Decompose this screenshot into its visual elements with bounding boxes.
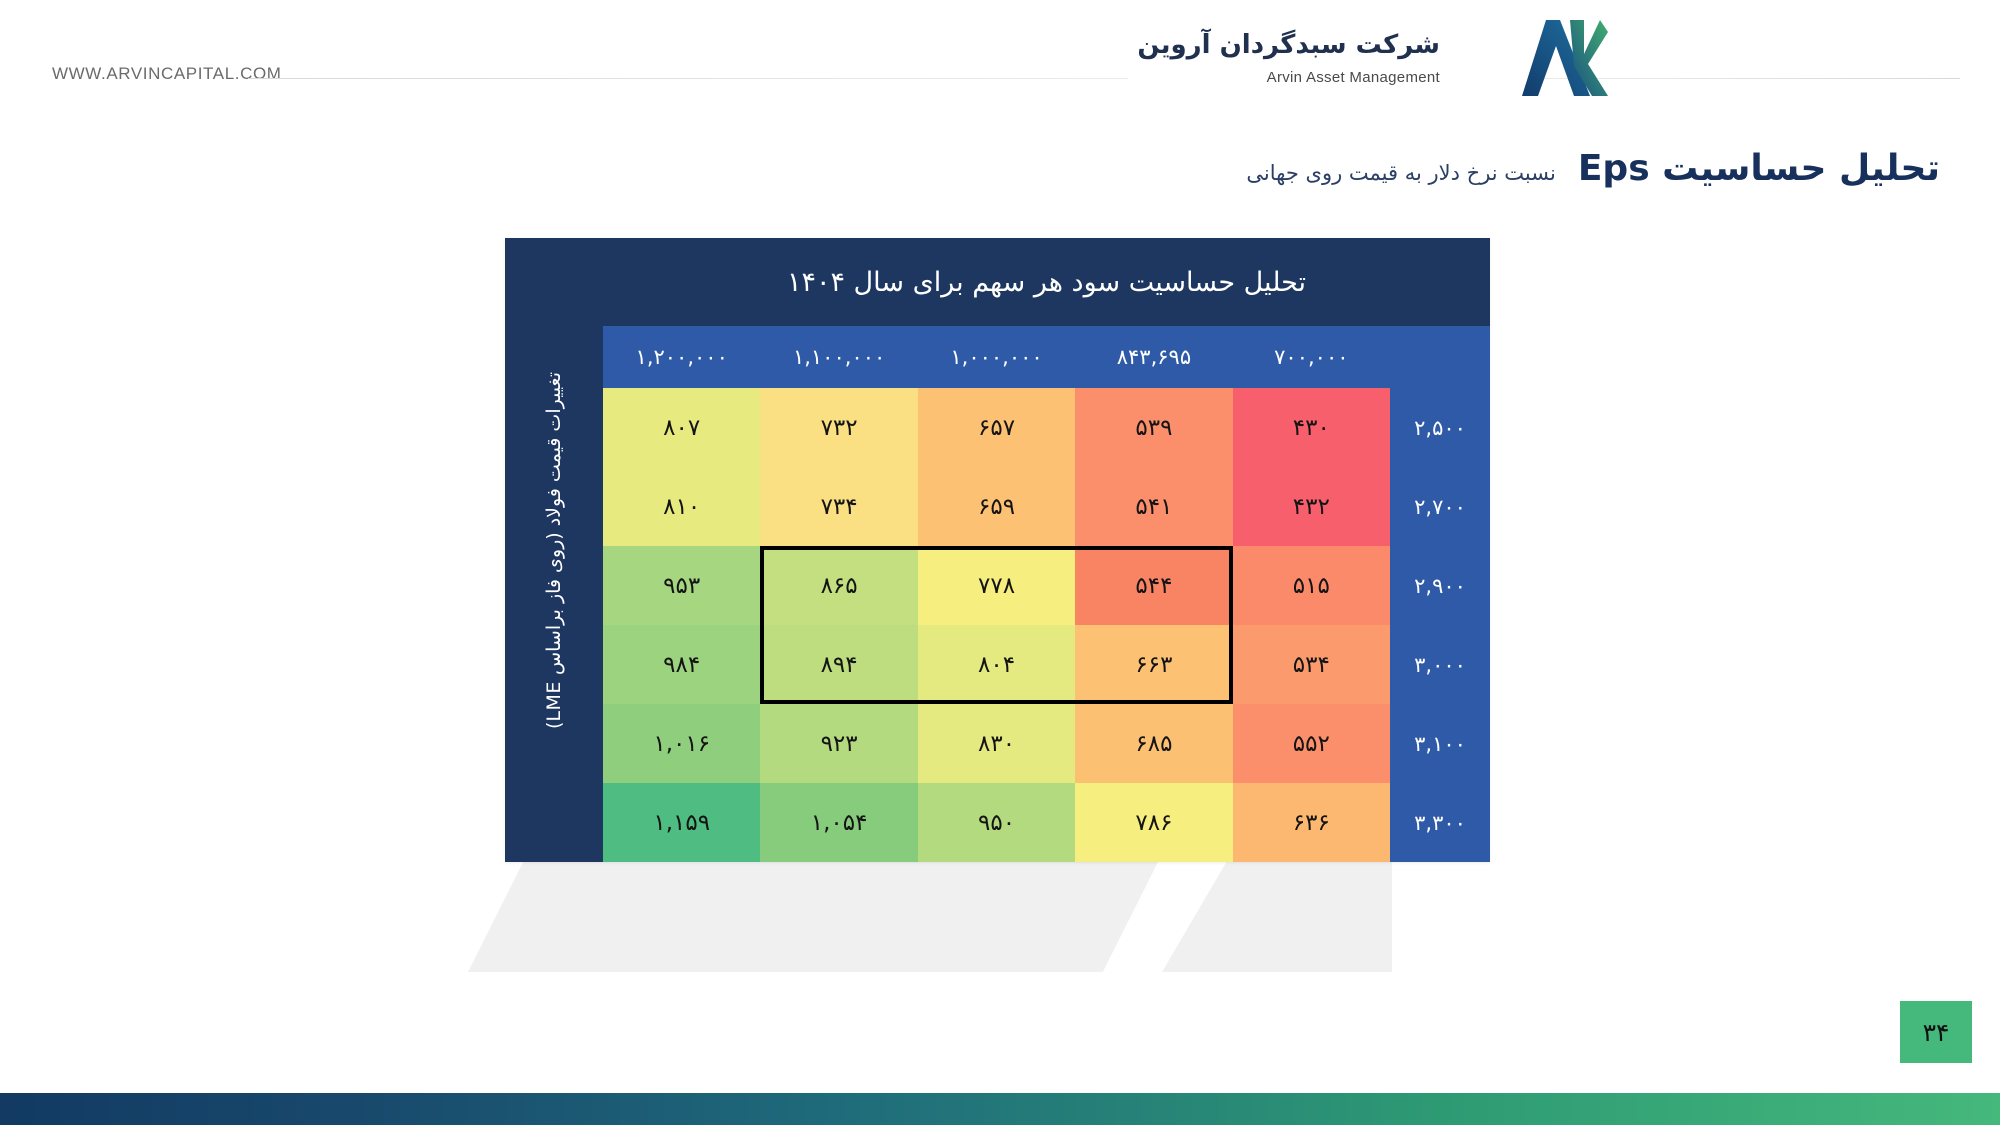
heatmap-cell: ۹۲۳: [760, 704, 917, 783]
row-label: ۳,۳۰۰: [1390, 783, 1490, 862]
column-header-2: ۱,۰۰۰,۰۰۰: [918, 326, 1075, 388]
slide-heading: تحلیل حساسیت Eps نسبت نرخ دلار به قیمت ر…: [1246, 148, 1940, 189]
heatmap-cell: ۸۰۷: [603, 388, 760, 467]
row-label: ۳,۰۰۰: [1390, 625, 1490, 704]
table-row: ۸۰۷۷۳۲۶۵۷۵۳۹۴۳۰۲,۵۰۰: [603, 388, 1490, 467]
row-label: ۲,۵۰۰: [1390, 388, 1490, 467]
table-row: ۸۱۰۷۳۴۶۵۹۵۴۱۴۳۲۲,۷۰۰: [603, 467, 1490, 546]
table-row: ۱,۱۵۹۱,۰۵۴۹۵۰۷۸۶۶۳۶۳,۳۰۰: [603, 783, 1490, 862]
column-header-0: ۱,۲۰۰,۰۰۰: [603, 326, 760, 388]
heatmap-cell: ۵۱۵: [1233, 546, 1390, 625]
heatmap-cell: ۹۵۳: [603, 546, 760, 625]
table-row: ۹۵۳۸۶۵۷۷۸۵۴۴۵۱۵۲,۹۰۰: [603, 546, 1490, 625]
heatmap-cell: ۴۳۲: [1233, 467, 1390, 546]
heatmap-cell: ۵۵۲: [1233, 704, 1390, 783]
table-grid: تحلیل حساسیت سود هر سهم برای سال ۱۴۰۴ ۱,…: [603, 238, 1490, 862]
page-number-badge: ۳۴: [1900, 1001, 1972, 1063]
header-divider-left: [248, 78, 1128, 79]
heatmap-cell: ۸۰۴: [918, 625, 1075, 704]
heatmap-cell: ۸۹۴: [760, 625, 917, 704]
site-url: WWW.ARVINCAPITAL.COM: [52, 64, 282, 84]
brand-block: شرکت سبدگردان آروین Arvin Asset Manageme…: [1137, 28, 1440, 86]
heatmap-cell: ۷۸۶: [1075, 783, 1232, 862]
heatmap-cell: ۸۱۰: [603, 467, 760, 546]
decorative-stand-right: [1162, 862, 1392, 972]
heatmap-cell: ۹۵۰: [918, 783, 1075, 862]
sensitivity-table-panel: تغییرات قیمت فولاد (روی فاز براساس LME) …: [505, 238, 1490, 862]
row-label: ۲,۹۰۰: [1390, 546, 1490, 625]
brand-name-en: Arvin Asset Management: [1137, 69, 1440, 86]
row-label: ۳,۱۰۰: [1390, 704, 1490, 783]
heatmap-cell: ۵۴۴: [1075, 546, 1232, 625]
column-header-row: ۱,۲۰۰,۰۰۰۱,۱۰۰,۰۰۰۱,۰۰۰,۰۰۰۸۴۳,۶۹۵۷۰۰,۰۰…: [603, 326, 1490, 388]
heatmap-cell: ۵۴۱: [1075, 467, 1232, 546]
heatmap-cell: ۶۸۵: [1075, 704, 1232, 783]
footer-gradient-bar: [0, 1093, 2000, 1125]
decorative-stand-left: [468, 862, 1158, 972]
heatmap-cell: ۵۳۴: [1233, 625, 1390, 704]
y-axis-strip: تغییرات قیمت فولاد (روی فاز براساس LME): [505, 238, 603, 862]
page-title: تحلیل حساسیت Eps: [1578, 148, 1940, 189]
heatmap-cell: ۶۵۷: [918, 388, 1075, 467]
heatmap-cell: ۵۳۹: [1075, 388, 1232, 467]
heatmap-cell: ۶۶۳: [1075, 625, 1232, 704]
heatmap-cell: ۸۳۰: [918, 704, 1075, 783]
column-header-1: ۱,۱۰۰,۰۰۰: [760, 326, 917, 388]
heatmap-cell: ۷۳۲: [760, 388, 917, 467]
heatmap-cell: ۱,۱۵۹: [603, 783, 760, 862]
heatmap-cell: ۷۳۴: [760, 467, 917, 546]
heatmap-cell: ۱,۰۵۴: [760, 783, 917, 862]
heatmap-cell: ۸۶۵: [760, 546, 917, 625]
heatmap-cell: ۷۷۸: [918, 546, 1075, 625]
y-axis-label: تغییرات قیمت فولاد (روی فاز براساس LME): [543, 372, 565, 729]
column-header-4: ۷۰۰,۰۰۰: [1233, 326, 1390, 388]
heatmap-cell: ۶۵۹: [918, 467, 1075, 546]
table-row: ۹۸۴۸۹۴۸۰۴۶۶۳۵۳۴۳,۰۰۰: [603, 625, 1490, 704]
page-subtitle: نسبت نرخ دلار به قیمت روی جهانی: [1246, 161, 1555, 185]
column-header-3: ۸۴۳,۶۹۵: [1075, 326, 1232, 388]
heatmap-cell: ۴۳۰: [1233, 388, 1390, 467]
row-label-header-spacer: [1390, 326, 1490, 388]
arvin-monogram-icon: [1512, 16, 1608, 100]
table-row: ۱,۰۱۶۹۲۳۸۳۰۶۸۵۵۵۲۳,۱۰۰: [603, 704, 1490, 783]
row-label: ۲,۷۰۰: [1390, 467, 1490, 546]
table-body: ۸۰۷۷۳۲۶۵۷۵۳۹۴۳۰۲,۵۰۰۸۱۰۷۳۴۶۵۹۵۴۱۴۳۲۲,۷۰۰…: [603, 388, 1490, 862]
brand-name-fa: شرکت سبدگردان آروین: [1137, 28, 1440, 63]
table-title: تحلیل حساسیت سود هر سهم برای سال ۱۴۰۴: [603, 238, 1490, 326]
heatmap-cell: ۶۳۶: [1233, 783, 1390, 862]
heatmap-cell: ۱,۰۱۶: [603, 704, 760, 783]
heatmap-cell: ۹۸۴: [603, 625, 760, 704]
